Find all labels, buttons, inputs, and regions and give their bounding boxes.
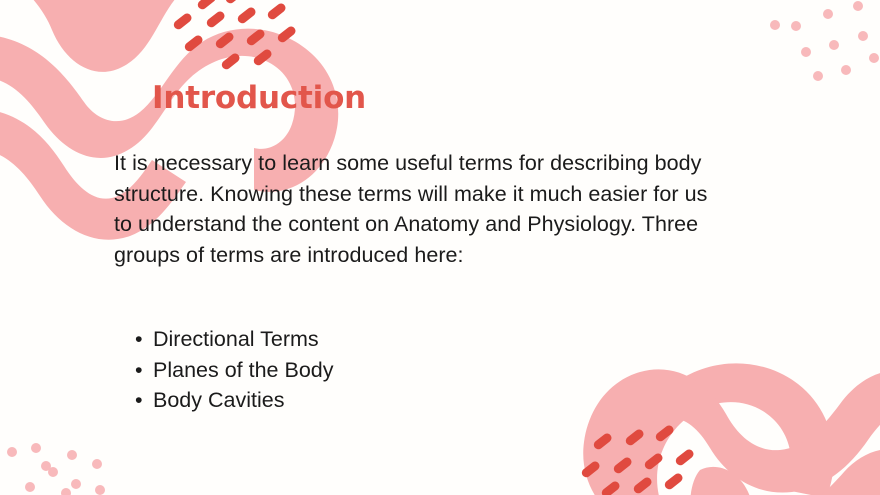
presentation-slide: Introduction It is necessary to learn so… [0, 0, 880, 495]
list-item-label: Directional Terms [153, 327, 319, 351]
slide-content: Introduction It is necessary to learn so… [0, 0, 880, 495]
list-item: • Directional Terms [133, 324, 333, 355]
body-paragraph: It is necessary to learn some useful ter… [114, 148, 714, 270]
bullet-icon: • [135, 324, 143, 355]
bullet-list: • Directional Terms • Planes of the Body… [133, 324, 333, 416]
list-item: • Body Cavities [133, 385, 333, 416]
page-title: Introduction [152, 80, 366, 116]
list-item: • Planes of the Body [133, 355, 333, 386]
bullet-icon: • [135, 385, 143, 416]
bullet-icon: • [135, 355, 143, 386]
list-item-label: Body Cavities [153, 388, 284, 412]
list-item-label: Planes of the Body [153, 358, 333, 382]
